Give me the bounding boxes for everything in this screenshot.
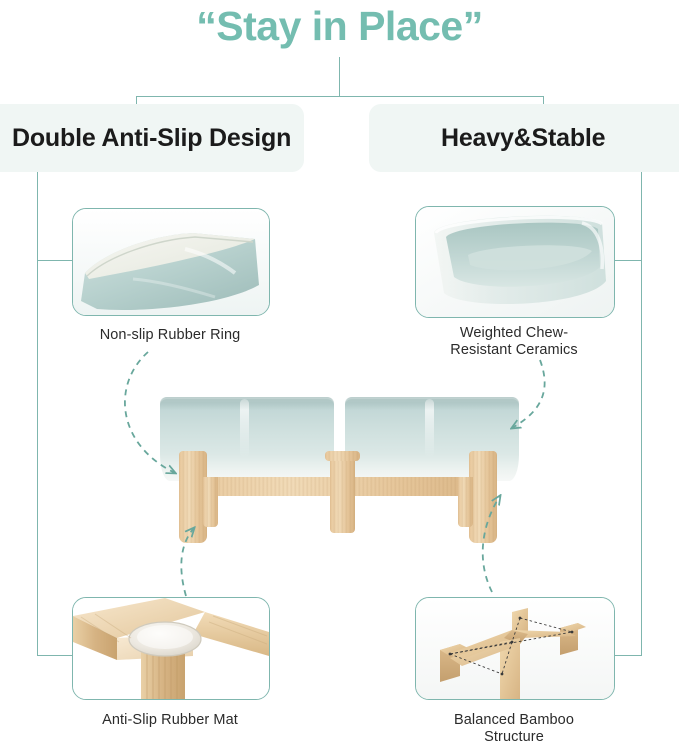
feature-caption-non-slip-rubber-ring: Non-slip Rubber Ring <box>60 327 280 344</box>
caption-line: Resistant Ceramics <box>404 342 624 359</box>
connector-title-stem <box>339 57 340 97</box>
bamboo-stand-leg-right-inner <box>458 477 473 527</box>
category-pill-heavy-stable[interactable]: Heavy&Stable <box>369 104 679 172</box>
bamboo-structure-illustration <box>416 598 614 699</box>
feature-caption-weighted-chew-resistant-ceramics: Weighted Chew- Resistant Ceramics <box>404 325 624 359</box>
caption-line: Weighted Chew- <box>404 325 624 342</box>
connector-top-bar <box>136 96 543 97</box>
product-image-double-pet-bowl-stand[interactable] <box>155 385 525 560</box>
connector-right-spine <box>641 172 642 656</box>
feature-image-non-slip-rubber-ring[interactable] <box>72 208 270 316</box>
category-label: Double Anti-Slip Design <box>12 124 291 153</box>
connector-left-branch-top <box>37 260 73 261</box>
connector-left-spine <box>37 172 38 656</box>
category-label: Heavy&Stable <box>441 124 605 153</box>
bamboo-stand-leg-right <box>469 451 497 543</box>
ceramic-bowl-illustration <box>416 207 614 317</box>
feature-image-anti-slip-rubber-mat[interactable] <box>72 597 270 700</box>
feature-image-balanced-bamboo-structure[interactable] <box>415 597 615 700</box>
feature-caption-balanced-bamboo-structure: Balanced Bamboo Structure <box>404 712 624 744</box>
bamboo-leg-rubber-pad-illustration <box>73 598 269 699</box>
feature-caption-anti-slip-rubber-mat: Anti-Slip Rubber Mat <box>60 712 280 729</box>
caption-line: Structure <box>404 729 624 744</box>
feature-image-weighted-chew-resistant-ceramics[interactable] <box>415 206 615 318</box>
caption-line: Non-slip Rubber Ring <box>60 327 280 344</box>
caption-line: Anti-Slip Rubber Mat <box>60 712 280 729</box>
category-pill-double-anti-slip[interactable]: Double Anti-Slip Design <box>0 104 304 172</box>
bamboo-stand-leg-center <box>330 451 355 533</box>
bamboo-stand-leg-center-cap <box>325 451 360 461</box>
caption-line: Balanced Bamboo <box>404 712 624 729</box>
bowl-base-closeup-illustration <box>73 209 269 315</box>
page-title: “Stay in Place” <box>0 2 679 50</box>
infographic-page: “Stay in Place” Double Anti-Slip Design … <box>0 0 679 744</box>
bamboo-stand-leg-left-inner <box>203 477 218 527</box>
